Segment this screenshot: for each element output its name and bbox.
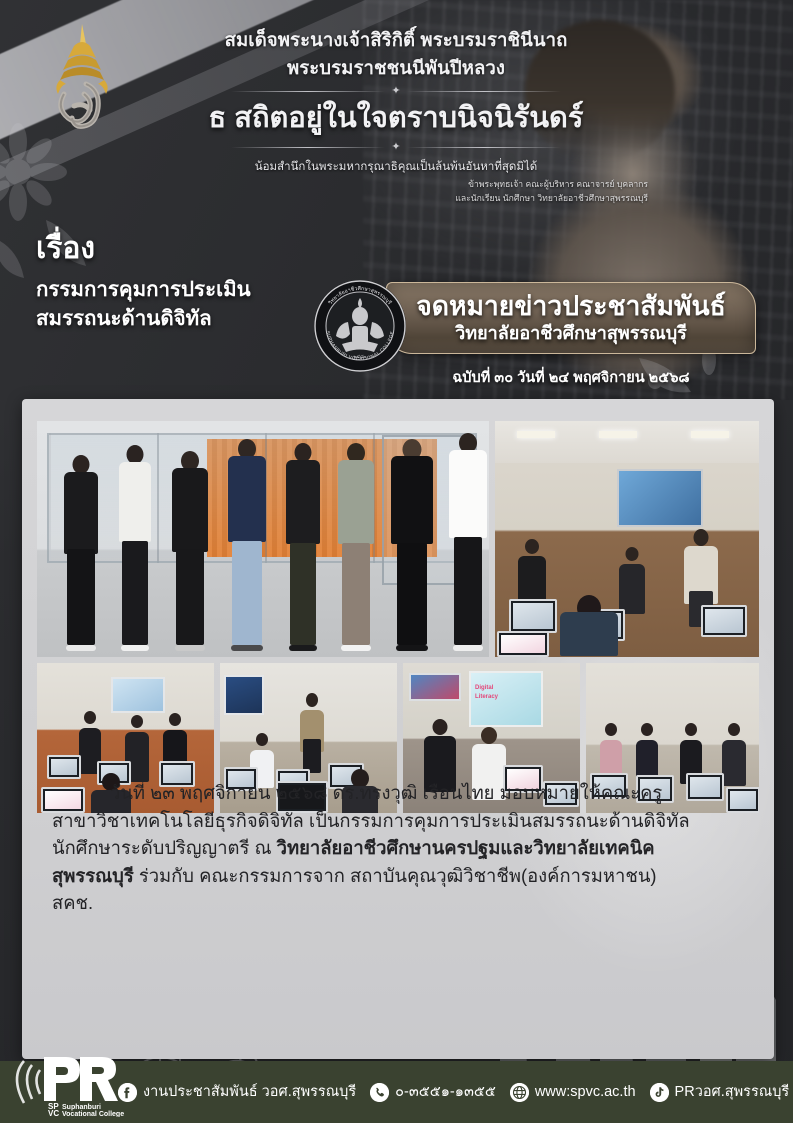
monitor-1 [509, 599, 557, 633]
monitor-3 [701, 605, 747, 637]
divider-bar-right-2 [407, 147, 561, 148]
monitor-4 [497, 631, 549, 657]
projector-label-line-2: Literacy [475, 694, 498, 701]
college-seal-icon: วิทยาลัยอาชีวศึกษาสุพรรณบุรี SUPHANBURI … [312, 278, 408, 374]
body-line-1: วันที่ ๒๓ พฤศจิกายน ๒๕๖๘ ดร.ทรงวุฒิ เรือ… [110, 782, 662, 803]
projection-screen-3 [111, 677, 165, 713]
tiktok-icon [650, 1083, 669, 1102]
divider-bar-left-2 [231, 147, 385, 148]
body-line-4-venue: สุพรรณบุรี [52, 865, 134, 886]
pr-logo: SP Suphanburi VC Vocational College [8, 1051, 128, 1117]
photo-group-photo-eight-people [37, 421, 489, 657]
pr-logo-vc: VC [48, 1109, 59, 1117]
p6-person-4 [720, 723, 748, 785]
lab-student-back [557, 595, 621, 657]
royal-tribute-block: สมเด็จพระนางเจ้าสิริกิติ์ พระบรมราชินีนา… [96, 26, 696, 205]
p4-curtain [224, 675, 264, 715]
subject-line-2: สมรรถนะด้านดิจิทัล [36, 304, 251, 334]
newsletter-title-plaque: จดหมายข่าวประชาสัมพันธ์ วิทยาลัยอาชีวศึก… [386, 282, 756, 354]
subject-line-1: กรรมการคุมการประเมิน [36, 275, 251, 305]
body-line-4-rest: ร่วมกับ คณะกรรมการจาก สถาบันคุณวุฒิวิชาช… [134, 865, 657, 886]
p6-person-2 [634, 723, 660, 781]
divider-diamond-icon-2: ✦ [391, 142, 400, 153]
person-6 [333, 443, 379, 651]
plaque-subtitle: วิทยาลัยอาชีวศึกษาสุพรรณบุรี [455, 322, 687, 345]
phone-icon [370, 1083, 389, 1102]
royal-subtext: น้อมสำนึกในพระมหากรุณาธิคุณเป็นล้นพ้นอัน… [96, 159, 696, 176]
newsletter-poster: สมเด็จพระนางเจ้าสิริกิติ์ พระบรมราชินีนา… [0, 0, 793, 1123]
royal-title-line-1: สมเด็จพระนางเจ้าสิริกิติ์ พระบรมราชินีนา… [96, 26, 696, 54]
contact-tiktok-text: PRวอศ.สุพรรณบุรี [675, 1085, 790, 1100]
person-8 [445, 433, 489, 651]
projection-screen [617, 469, 703, 527]
ceiling-lamp-1 [517, 431, 555, 438]
body-line-2: สาขาวิชาเทคโนโลยีธุรกิจดิจิทัล เป็นกรรมก… [52, 810, 690, 831]
photo-row-top [37, 421, 759, 657]
contact-facebook[interactable]: งานประชาสัมพันธ์ วอศ.สุพรรณบุรี [118, 1083, 356, 1102]
royal-main-tribute: ธ สถิตอยู่ในใจตราบนิจนิรันดร์ [96, 99, 696, 138]
p4-person-standing [298, 693, 326, 779]
person-1 [59, 455, 103, 651]
contact-phone-text: ๐-๓๕๕๑-๑๓๕๕ [395, 1085, 496, 1100]
ornamental-divider-bottom: ✦ [231, 142, 561, 153]
person-5 [281, 443, 325, 651]
royal-signer-line-2: และนักเรียน นักศึกษา วิทยาลัยอาชีวศึกษาส… [96, 192, 696, 204]
ceiling-lamp-3 [691, 431, 729, 438]
divider-diamond-icon: ✦ [391, 86, 400, 97]
pr-logo-sp-word: Suphanburi [62, 1104, 101, 1111]
person-4 [223, 439, 271, 651]
subject-kicker: เรื่อง [36, 232, 251, 267]
contact-facebook-text: งานประชาสัมพันธ์ วอศ.สุพรรณบุรี [143, 1085, 356, 1100]
wall-poster [409, 673, 461, 701]
seal-center-text: ๒๔๘๐ [354, 354, 367, 359]
divider-bar-left [231, 91, 385, 92]
body-line-3-venue: วิทยาลัยอาชีวศึกษานครปฐมและวิทยาลัยเทคนิ… [277, 837, 655, 858]
contact-phone[interactable]: ๐-๓๕๕๑-๑๓๕๕ [370, 1083, 496, 1102]
contact-website-text: www:spvc.ac.th [535, 1085, 636, 1100]
royal-title-line-2: พระบรมราชชนนีพันปีหลวง [96, 54, 696, 82]
projector-label-line-1: Digital [475, 685, 493, 692]
subject-block: เรื่อง กรรมการคุมการประเมิน สมรรถนะด้านด… [36, 232, 251, 334]
contact-website[interactable]: www:spvc.ac.th [510, 1083, 636, 1102]
body-line-5: สคช. [52, 892, 93, 913]
contact-list: งานประชาสัมพันธ์ วอศ.สุพรรณบุรี ๐-๓๕๕๑-๑… [118, 1061, 785, 1123]
ceiling-lamp-2 [599, 431, 637, 438]
p6-person-1 [598, 723, 624, 779]
pr-logo-vc-word: Vocational College [62, 1111, 124, 1117]
lab-person-2 [617, 547, 647, 617]
contact-tiktok[interactable]: PRวอศ.สุพรรณบุรี [650, 1083, 790, 1102]
royal-signer-line-1: ข้าพระพุทธเจ้า คณะผู้บริหาร คณาจารย์ บุค… [96, 178, 696, 190]
ceiling [495, 421, 759, 463]
header-band: สมเด็จพระนางเจ้าสิริกิติ์ พระบรมราชินีนา… [0, 0, 793, 400]
globe-icon [510, 1083, 529, 1102]
divider-bar-right [407, 91, 561, 92]
plaque-title: จดหมายข่าวประชาสัมพันธ์ [416, 292, 726, 321]
photo-collage: Digital Literacy [37, 421, 759, 813]
person-7 [387, 439, 437, 651]
p3-monitor-1 [47, 755, 81, 779]
article-body: วันที่ ๒๓ พฤศจิกายน ๒๕๖๘ ดร.ทรงวุฒิ เรือ… [52, 779, 746, 917]
photo-computer-lab-overview [495, 421, 759, 657]
content-card: Digital Literacy [22, 399, 774, 1059]
person-3 [167, 451, 213, 651]
body-line-3-prefix: นักศึกษาระดับปริญญาตรี ณ [52, 837, 277, 858]
issue-line: ฉบับที่ ๓๐ วันที่ ๒๔ พฤศจิกายน ๒๕๖๘ [386, 366, 756, 389]
person-2 [113, 445, 157, 651]
ornamental-divider-top: ✦ [231, 86, 561, 97]
